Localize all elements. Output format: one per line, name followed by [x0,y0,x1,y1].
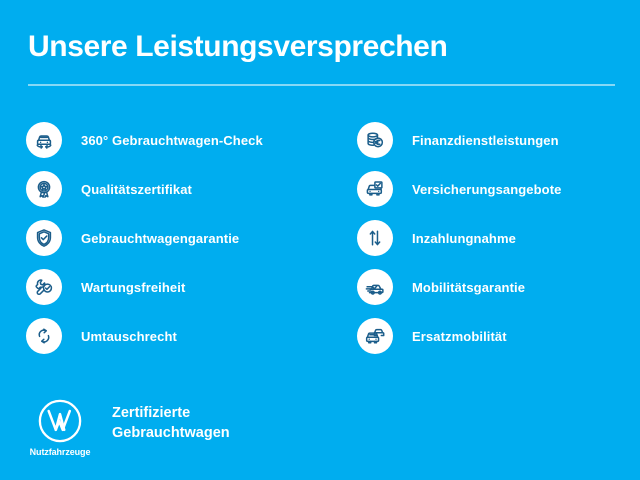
promise-item-insurance-offers[interactable]: Versicherungsangebote [357,171,640,207]
wrench-check-icon [26,269,62,305]
promise-label: Gebrauchtwagengarantie [81,231,239,246]
promise-label: Mobilitätsgarantie [412,280,525,295]
shield-check-icon [26,220,62,256]
coins-euro-icon [357,122,393,158]
promise-label: Ersatzmobilität [412,329,507,344]
promise-item-maintenance-free[interactable]: Wartungsfreiheit [26,269,316,305]
promise-label: Finanzdienstleistungen [412,133,559,148]
promise-item-trade-in[interactable]: Inzahlungnahme [357,220,640,256]
promises-column-right: Finanzdienstleistungen Versicherungsange… [357,122,640,367]
exchange-arrows-icon [26,318,62,354]
promise-item-financial-services[interactable]: Finanzdienstleistungen [357,122,640,158]
promise-item-quality-certificate[interactable]: Qualitätszertifikat [26,171,316,207]
promise-label: Wartungsfreiheit [81,280,185,295]
footer-line-2: Gebrauchtwagen [112,424,230,444]
vw-roundel-icon [37,398,83,444]
promise-label: Umtauschrecht [81,329,177,344]
title-divider [28,84,615,86]
car-360-check-icon [26,122,62,158]
page-title: Unsere Leistungsversprechen [28,30,447,64]
promise-item-360-check[interactable]: 360° Gebrauchtwagen-Check [26,122,316,158]
promises-column-left: 360° Gebrauchtwagen-Check Qualitätszerti… [26,122,316,367]
promise-item-exchange-right[interactable]: Umtauschrecht [26,318,316,354]
promise-item-mobility-guarantee[interactable]: Mobilitätsgarantie [357,269,640,305]
vw-wordmark: Nutzfahrzeuge [28,447,92,457]
promise-label: Inzahlungnahme [412,231,516,246]
footer: Nutzfahrzeuge Zertifizierte Gebrauchtwag… [28,398,230,457]
footer-text: Zertifizierte Gebrauchtwagen [112,404,230,443]
promise-label: Qualitätszertifikat [81,182,192,197]
promise-label: 360° Gebrauchtwagen-Check [81,133,263,148]
arrows-up-down-icon [357,220,393,256]
slide-root: Unsere Leistungsversprechen 360° Gebrauc… [0,0,640,480]
promise-item-replacement-mobility[interactable]: Ersatzmobilität [357,318,640,354]
two-cars-icon [357,318,393,354]
promise-label: Versicherungsangebote [412,182,561,197]
footer-line-1: Zertifizierte [112,404,230,424]
car-check-mobility-icon [357,269,393,305]
quality-award-icon [26,171,62,207]
promise-item-warranty[interactable]: Gebrauchtwagengarantie [26,220,316,256]
car-document-check-icon [357,171,393,207]
vw-logo-block: Nutzfahrzeuge [28,398,92,457]
